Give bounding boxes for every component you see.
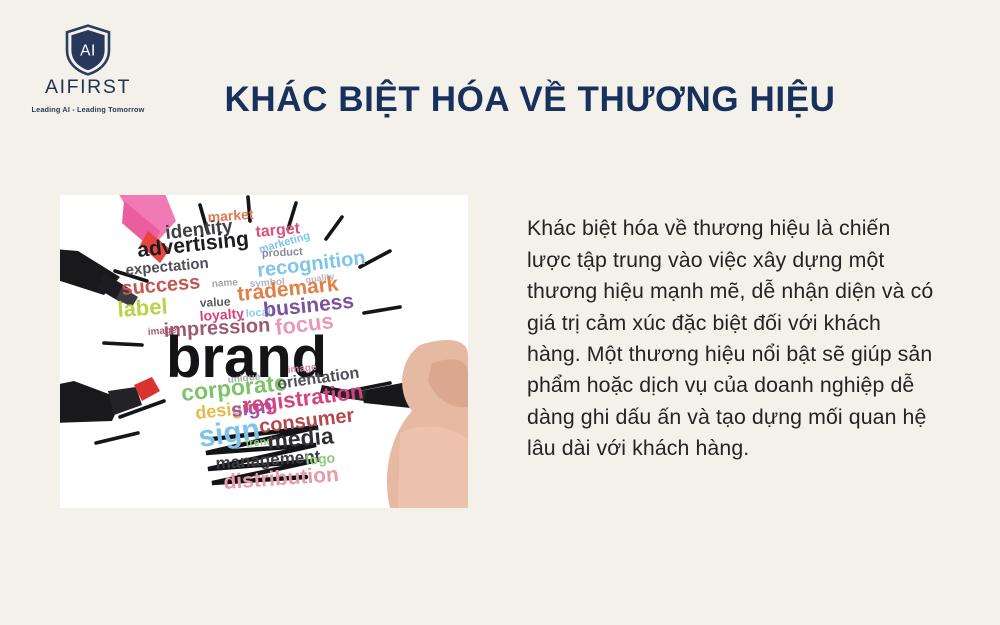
- brand-wordmark: AIFIRST: [18, 78, 158, 98]
- brand-word-cloud-image: market identity target marketing adverti…: [60, 195, 468, 508]
- brand-tagline: Leading AI - Leading Tomorrow: [18, 106, 158, 113]
- svg-text:label: label: [117, 294, 169, 322]
- logo-block: AI AIFIRST Leading AI - Leading Tomorrow: [18, 24, 158, 113]
- shield-icon: AI: [18, 24, 158, 76]
- svg-text:name: name: [211, 277, 238, 290]
- body-paragraph: Khác biệt hóa về thương hiệu là chiến lư…: [527, 213, 939, 464]
- page-title: KHÁC BIỆT HÓA VỀ THƯƠNG HIỆU: [180, 81, 880, 120]
- shield-monogram: AI: [80, 43, 96, 60]
